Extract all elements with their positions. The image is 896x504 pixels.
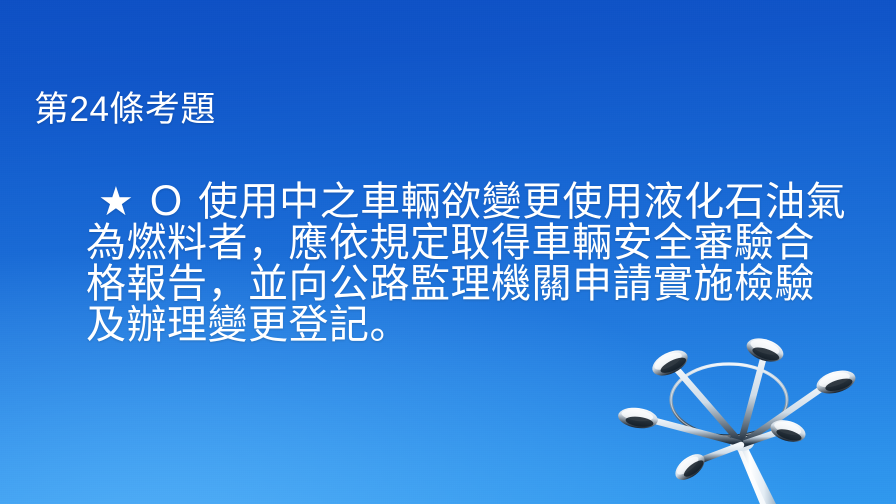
body-line-3: 格報告，並向公路監理機關申請實施檢驗 [86,264,826,305]
body-line-4: 及辦理變更登記。 [86,305,826,346]
slide-title: 第24條考題 [34,88,216,132]
slide-body-text: ★ Ｏ 使用中之車輛欲變更使用液化石油氣 為燃料者，應依規定取得車輛安全審驗合 … [86,182,826,346]
slide-canvas: 第24條考題 ★ Ｏ 使用中之車輛欲變更使用液化石油氣 為燃料者，應依規定取得車… [0,0,896,504]
body-line-2: 為燃料者，應依規定取得車輛安全審驗合 [86,223,826,264]
body-line-1: ★ Ｏ 使用中之車輛欲變更使用液化石油氣 [86,182,826,223]
